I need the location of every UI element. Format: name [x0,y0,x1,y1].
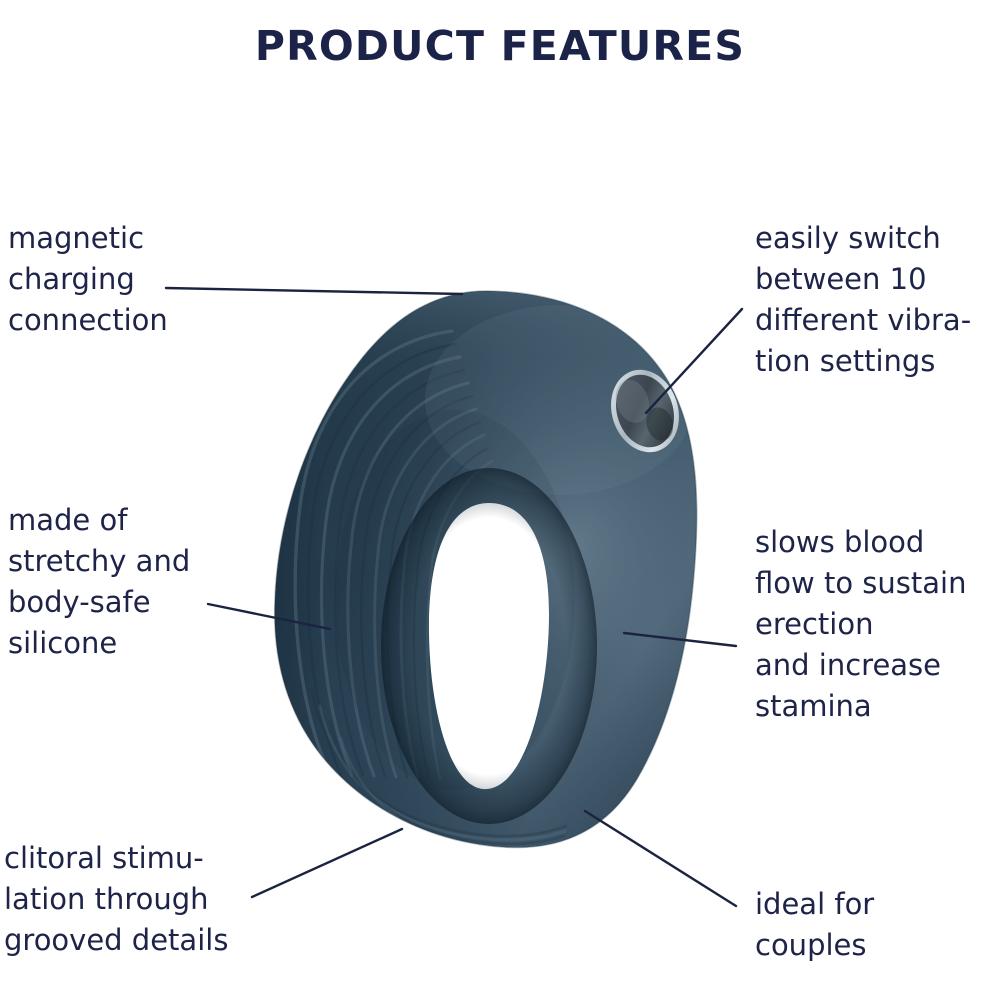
callout-ideal-for-couples: ideal for couples [755,884,874,966]
product-features-infographic: PRODUCT FEATURES [0,0,1000,1000]
callout-easily-switch-between-10-different-vibration-settings: easily switch between 10 different vibra… [755,218,971,382]
callout-clitoral-stimulation-through-grooved-details: clitoral stimu- lation through grooved d… [4,838,228,961]
callout-magnetic-charging-connection: magnetic charging connection [8,218,168,341]
ring-opening [381,468,597,824]
leader-line-magnetic [166,288,462,294]
leader-line-couples [585,811,736,906]
leader-line-switch [646,309,742,413]
callout-slows-blood-flow-to-sustain-erection-and-increase-stamina: slows blood flow to sustain erection and… [755,522,966,727]
leader-line-clitoral [252,829,402,897]
product-body [260,275,720,875]
callout-made-of-stretchy-and-body-safe-silicone: made of stretchy and body-safe silicone [8,500,190,664]
